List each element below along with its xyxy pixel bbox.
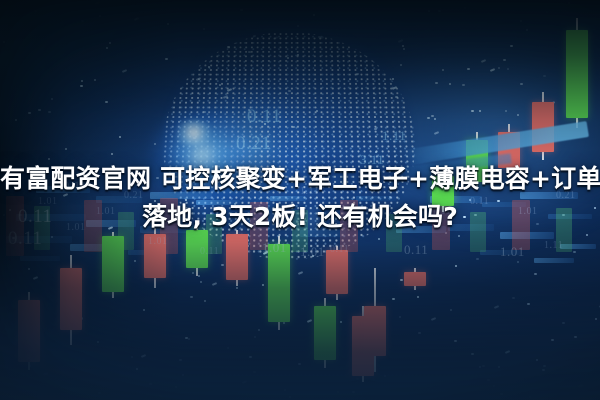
headline-text: 有富配资官网 可控核聚变+军工电子+薄膜电容+订单 落地, 3天2板! 还有机会…: [0, 160, 600, 236]
promo-banner: 0.110.211.113.110.111.010.110.111.011.01…: [0, 0, 600, 400]
headline-line-2: 落地, 3天2板! 还有机会吗?: [0, 198, 600, 236]
headline-line-1: 有富配资官网 可控核聚变+军工电子+薄膜电容+订单: [0, 160, 600, 198]
